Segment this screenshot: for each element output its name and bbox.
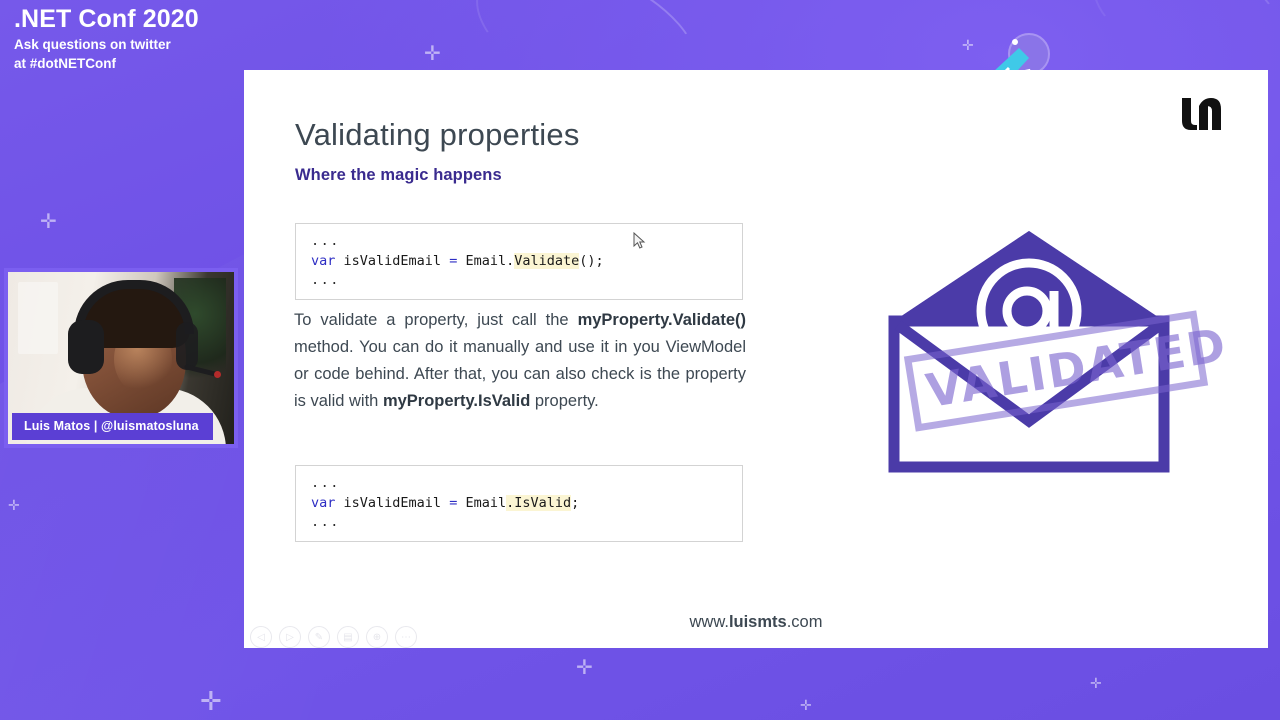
- presentation-toolbar[interactable]: ◁ ▷ ✎ ▤ ⊕ ⋯: [250, 626, 417, 648]
- code-line-validate: var isValidEmail = Email.Validate();: [311, 252, 742, 272]
- code-identifier-2: isValidEmail: [335, 495, 449, 511]
- headphone-earcup-right-icon: [176, 322, 198, 370]
- code-highlight-isvalid: .IsValid: [506, 495, 571, 511]
- sparkle-icon: ✛: [1090, 676, 1102, 690]
- code-line-isvalid: var isValidEmail = Email.IsValid;: [311, 494, 742, 514]
- conference-header: .NET Conf 2020 Ask questions on twitter …: [14, 6, 199, 73]
- pen-icon[interactable]: ✎: [308, 626, 330, 648]
- body-bold-isvalid: myProperty.IsValid: [383, 392, 530, 410]
- code-statement-tail: ;: [571, 495, 579, 511]
- slide-panel: Validating properties Where the magic ha…: [244, 70, 1268, 648]
- code-keyword-var-2: var: [311, 495, 335, 511]
- presenter-name-badge: Luis Matos | @luismatosluna: [12, 413, 213, 440]
- sparkle-icon: ✛: [800, 698, 812, 712]
- sparkle-icon: ✛: [424, 44, 441, 64]
- code-object-email-2: Email: [457, 495, 506, 511]
- code-block-validate: ... var isValidEmail = Email.Validate();…: [295, 223, 743, 300]
- body-part-3: property.: [530, 392, 598, 410]
- footer-suffix: .com: [787, 613, 823, 631]
- body-part-1: To validate a property, just call the: [294, 311, 578, 329]
- code-line-ellipsis-bottom: ...: [311, 271, 742, 291]
- screen: ✛ ✛ ✛ ✛ ✛ ✛ ✛ ✛ .NET Conf 2020 Ask quest…: [0, 0, 1280, 720]
- code-object-email: Email.: [457, 253, 514, 269]
- code-identifier: isValidEmail: [335, 253, 449, 269]
- footer-domain: luismts: [729, 613, 787, 631]
- body-bold-validate: myProperty.Validate(): [578, 311, 746, 329]
- slide-body-text: To validate a property, just call the my…: [294, 307, 746, 415]
- footer-prefix: www.: [690, 613, 729, 631]
- next-icon[interactable]: ▷: [279, 626, 301, 648]
- code-line-ellipsis-top: ...: [311, 232, 742, 252]
- code-call-tail: ();: [579, 253, 603, 269]
- sparkle-icon: ✛: [8, 498, 20, 512]
- code-highlight-validate: Validate: [514, 253, 579, 269]
- microphone-tip-icon: [214, 371, 221, 378]
- envelope-illustration: VALIDATED: [884, 225, 1174, 475]
- more-icon[interactable]: ⋯: [395, 626, 417, 648]
- code-block-isvalid: ... var isValidEmail = Email.IsValid; ..…: [295, 465, 743, 542]
- code-line-ellipsis-bottom-2: ...: [311, 513, 742, 533]
- sparkle-icon: ✛: [40, 212, 57, 232]
- webcam-door: [18, 282, 58, 354]
- headphone-earcup-icon: [68, 320, 104, 374]
- sparkle-icon: ✛: [962, 38, 974, 52]
- luismts-logo-icon: [1180, 97, 1224, 131]
- conference-title: .NET Conf 2020: [14, 6, 199, 34]
- zoom-icon[interactable]: ⊕: [366, 626, 388, 648]
- previous-icon[interactable]: ◁: [250, 626, 272, 648]
- conference-subtitle-line1: Ask questions on twitter: [14, 36, 199, 54]
- sparkle-icon: ✛: [576, 658, 593, 678]
- slide-subtitle: Where the magic happens: [295, 166, 502, 185]
- webcam-feed: Luis Matos | @luismatosluna: [4, 268, 238, 448]
- code-keyword-var: var: [311, 253, 335, 269]
- save-icon[interactable]: ▤: [337, 626, 359, 648]
- conference-subtitle-line2: at #dotNETConf: [14, 55, 199, 73]
- mouse-cursor: [633, 232, 646, 250]
- sparkle-icon: ✛: [200, 688, 222, 714]
- slide-title: Validating properties: [295, 117, 580, 153]
- code-line-ellipsis-top-2: ...: [311, 474, 742, 494]
